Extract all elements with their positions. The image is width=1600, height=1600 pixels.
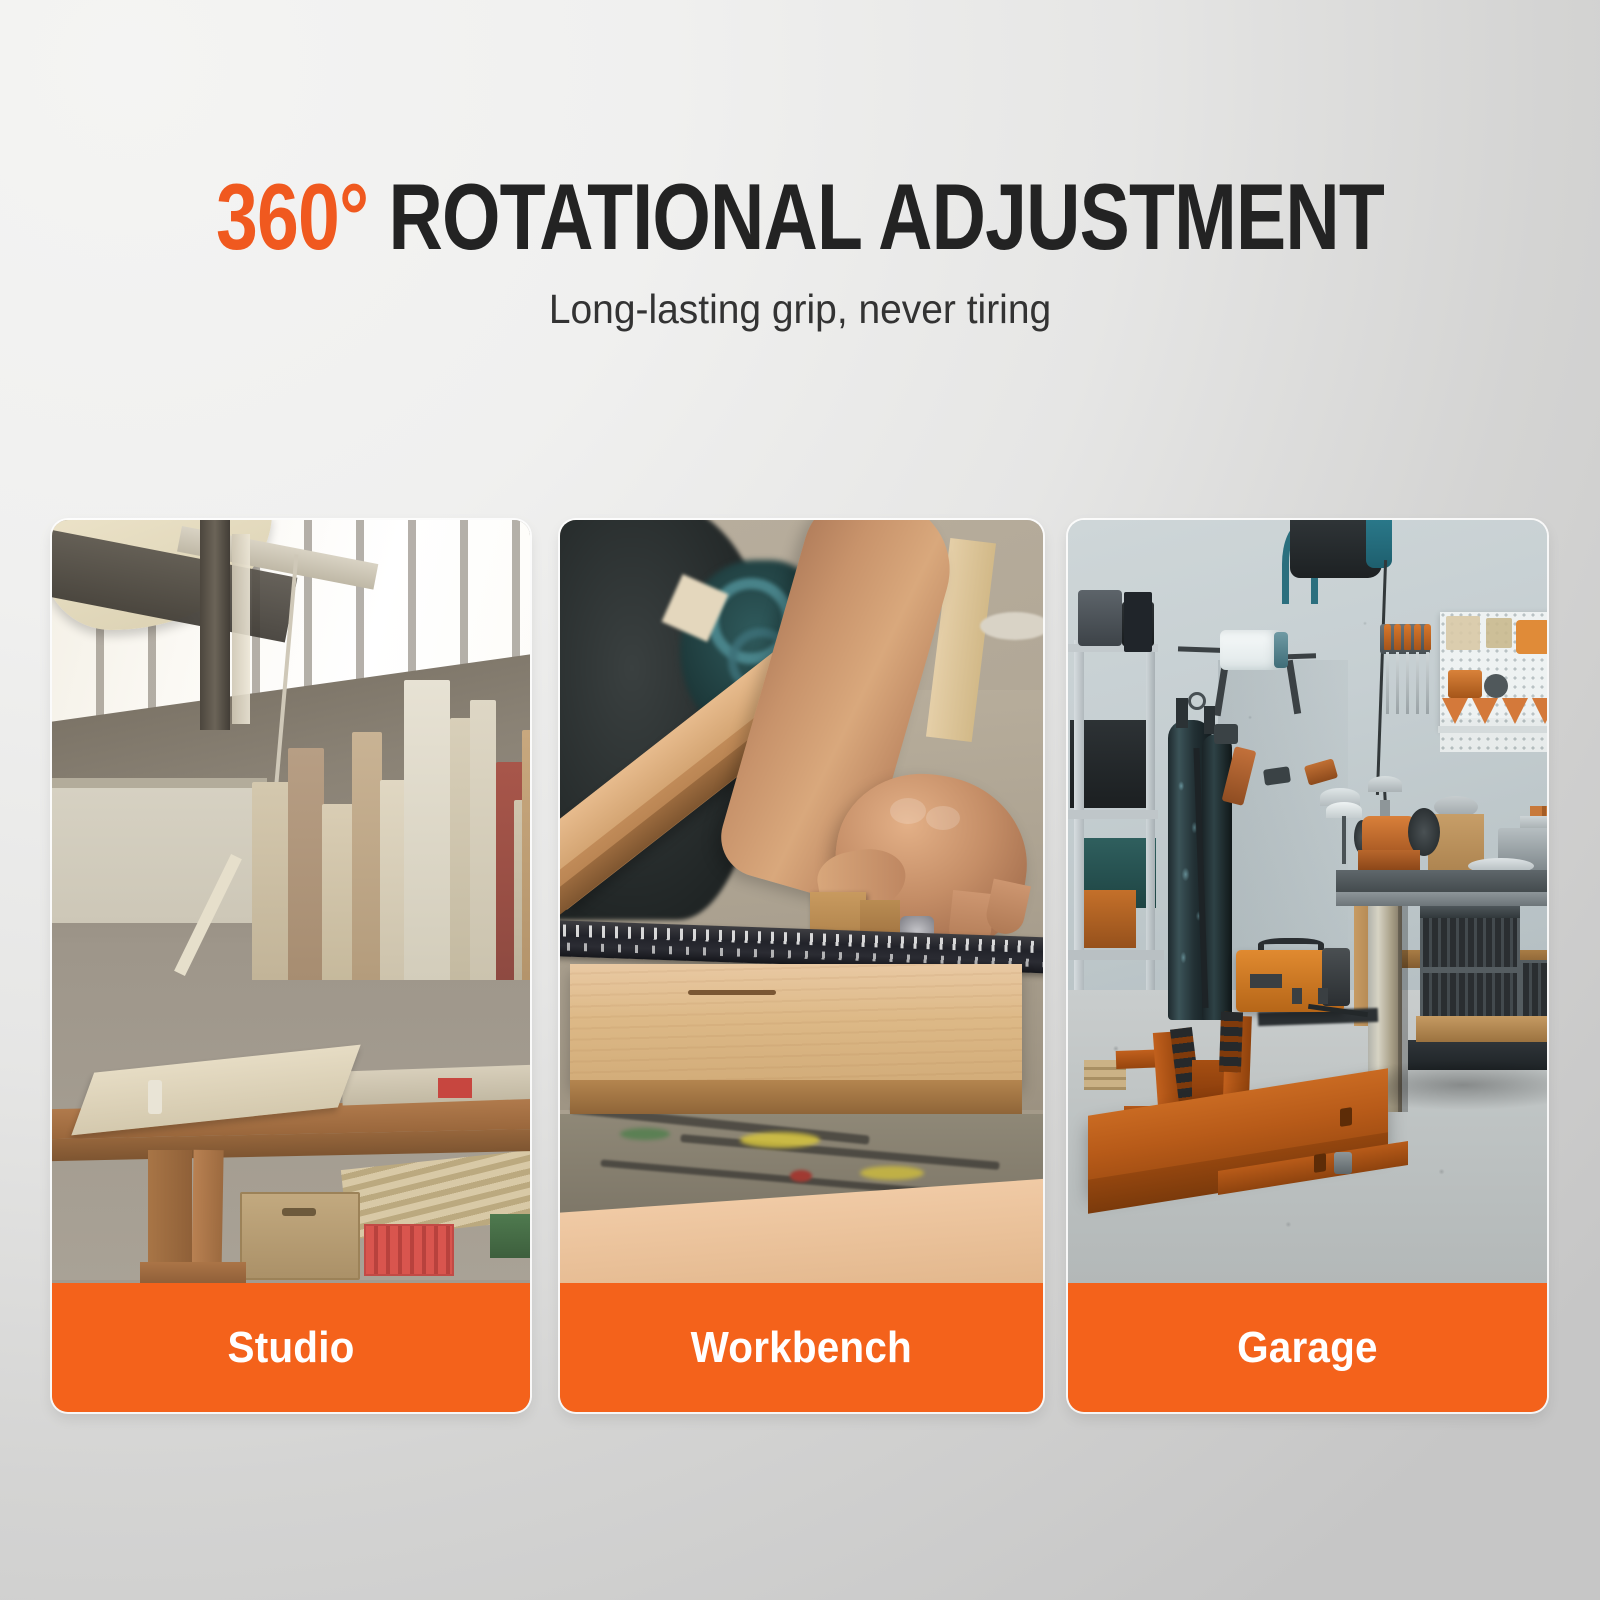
page-title: 360° ROTATIONAL ADJUSTMENT — [160, 170, 1440, 264]
studio-photo — [52, 520, 530, 1283]
studio-caption-bar: Studio — [52, 1283, 530, 1412]
wooden-crate — [240, 1192, 360, 1280]
headline-accent: 360° — [216, 164, 368, 269]
product-feature-banner: 360° ROTATIONAL ADJUSTMENT Long-lasting … — [0, 0, 1600, 1600]
headline-main: ROTATIONAL ADJUSTMENT — [388, 164, 1384, 269]
garage-caption-bar: Garage — [1068, 1283, 1547, 1412]
workbench-caption-bar: Workbench — [560, 1283, 1043, 1412]
scene-card-garage[interactable]: Garage — [1068, 520, 1547, 1412]
scene-card-row: Studio — [52, 520, 1547, 1412]
garage-photo — [1068, 520, 1547, 1283]
studio-caption-label: Studio — [227, 1323, 354, 1373]
garage-caption-label: Garage — [1237, 1323, 1378, 1373]
paper-towel-roll — [1220, 630, 1282, 670]
pressure-gauge-icon — [1188, 692, 1206, 710]
scene-card-studio[interactable]: Studio — [52, 520, 530, 1412]
workbench-photo — [560, 520, 1043, 1283]
header: 360° ROTATIONAL ADJUSTMENT Long-lasting … — [0, 170, 1600, 333]
workbench-caption-label: Workbench — [691, 1323, 912, 1373]
page-subtitle: Long-lasting grip, never tiring — [40, 286, 1560, 333]
red-plastic-crate — [364, 1224, 454, 1276]
scene-card-workbench[interactable]: Workbench — [560, 520, 1043, 1412]
